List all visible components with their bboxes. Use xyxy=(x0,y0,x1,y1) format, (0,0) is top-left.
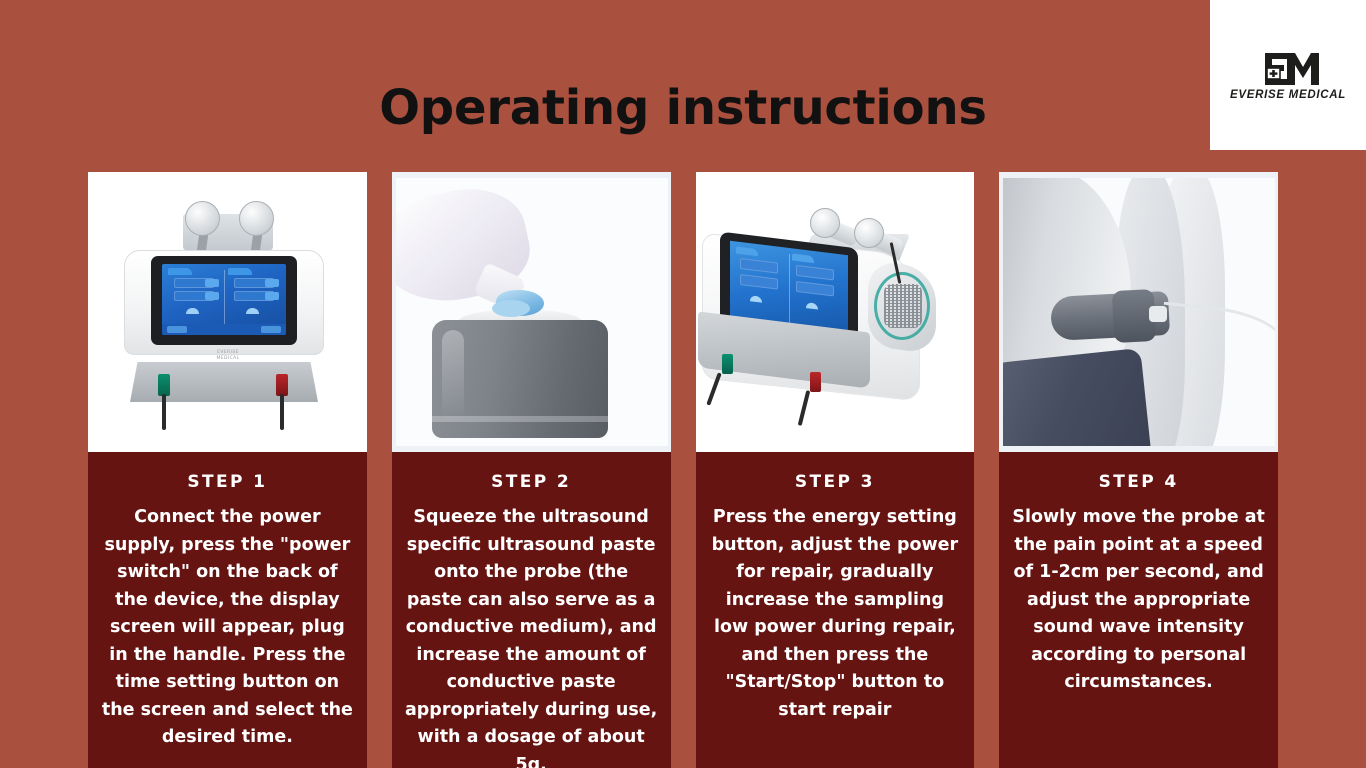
step-3-text: Press the energy setting button, adjust … xyxy=(706,504,965,724)
step-2-label: STEP 2 xyxy=(402,472,661,492)
step-2-photo xyxy=(392,172,671,452)
device-touchscreen xyxy=(162,264,286,335)
green-connector xyxy=(722,354,733,374)
step-card-2: STEP 2 Squeeze the ultrasound specific u… xyxy=(392,172,671,768)
gel-application-illustration xyxy=(396,178,668,446)
step-2-text: Squeeze the ultrasound specific ultrasou… xyxy=(402,504,661,768)
step-2-body: STEP 2 Squeeze the ultrasound specific u… xyxy=(392,452,671,768)
teal-accent-ring xyxy=(874,272,930,340)
probe-head-icon xyxy=(854,218,884,248)
step-4-body: STEP 4 Slowly move the probe at the pain… xyxy=(999,452,1278,768)
machine-front-illustration: EVERISEMEDICAL xyxy=(88,172,367,452)
step-3-photo: EVERISEMEDICAL xyxy=(696,172,975,452)
step-1-label: STEP 1 xyxy=(98,472,357,492)
step-card-3: EVERISEMEDICAL STEP 3 Press the energy s… xyxy=(696,172,975,768)
probe-on-body-illustration xyxy=(1003,178,1275,446)
probe-head-icon xyxy=(239,201,274,236)
steps-row: EVERISEMEDICAL STEP 1 Connect the power … xyxy=(88,172,1278,768)
step-3-label: STEP 3 xyxy=(706,472,965,492)
step-card-1: EVERISEMEDICAL STEP 1 Connect the power … xyxy=(88,172,367,768)
probe-head-icon xyxy=(185,201,220,236)
slide-root: EVERISE MEDICAL Operating instructions xyxy=(0,0,1366,768)
red-connector xyxy=(810,372,821,392)
patient-shorts xyxy=(1003,348,1153,446)
step-1-body: STEP 1 Connect the power supply, press t… xyxy=(88,452,367,768)
step-4-label: STEP 4 xyxy=(1009,472,1268,492)
red-connector xyxy=(276,374,288,396)
step-3-body: STEP 3 Press the energy setting button, … xyxy=(696,452,975,768)
step-1-text: Connect the power supply, press the "pow… xyxy=(98,504,357,752)
step-4-text: Slowly move the probe at the pain point … xyxy=(1009,504,1268,697)
page-title: Operating instructions xyxy=(0,76,1366,140)
step-1-photo: EVERISEMEDICAL xyxy=(88,172,367,452)
step-4-photo xyxy=(999,172,1278,452)
probe-head-icon xyxy=(810,208,840,238)
step-card-4: STEP 4 Slowly move the probe at the pain… xyxy=(999,172,1278,768)
green-connector xyxy=(158,374,170,396)
machine-angled-illustration: EVERISEMEDICAL xyxy=(696,172,975,452)
